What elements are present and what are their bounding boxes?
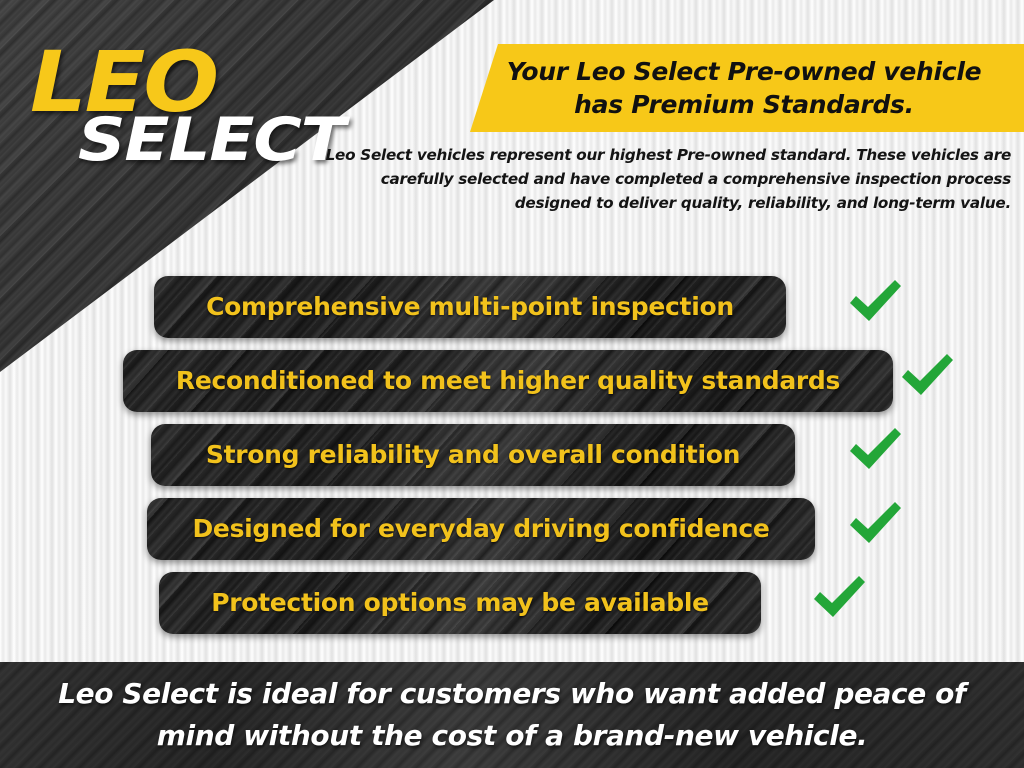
feature-row: Protection options may be available [0,566,1024,640]
green-check-icon [846,276,904,326]
feature-row: Strong reliability and overall condition [0,418,1024,492]
feature-pill: Designed for everyday driving confidence [147,498,815,560]
feature-row: Comprehensive multi-point inspection [0,270,1024,344]
footer-text: Leo Select is ideal for customers who wa… [42,673,982,757]
feature-label: Comprehensive multi-point inspection [206,292,734,322]
leo-select-poster: LEO SELECT Your Leo Select Pre-owned veh… [0,0,1024,768]
headline-banner: Your Leo Select Pre-owned vehicle has Pr… [470,44,1024,132]
feature-row: Designed for everyday driving confidence [0,492,1024,566]
feature-label: Designed for everyday driving confidence [192,514,769,544]
footer-band: Leo Select is ideal for customers who wa… [0,662,1024,768]
feature-pill: Protection options may be available [159,572,761,634]
feature-pill: Reconditioned to meet higher quality sta… [123,350,893,412]
feature-pill: Strong reliability and overall condition [151,424,795,486]
feature-label: Strong reliability and overall condition [206,440,740,470]
feature-label: Protection options may be available [211,588,709,618]
green-check-icon [846,424,904,474]
green-check-icon [846,498,904,548]
feature-label: Reconditioned to meet higher quality sta… [176,366,840,396]
feature-pill: Comprehensive multi-point inspection [154,276,786,338]
intro-paragraph: Leo Select vehicles represent our highes… [305,143,1011,215]
green-check-icon [898,350,956,400]
green-check-icon [810,572,868,622]
headline-text: Your Leo Select Pre-owned vehicle has Pr… [481,55,1013,121]
feature-row: Reconditioned to meet higher quality sta… [0,344,1024,418]
leo-select-logo: LEO SELECT [30,40,330,180]
feature-list: Comprehensive multi-point inspection Rec… [0,270,1024,640]
